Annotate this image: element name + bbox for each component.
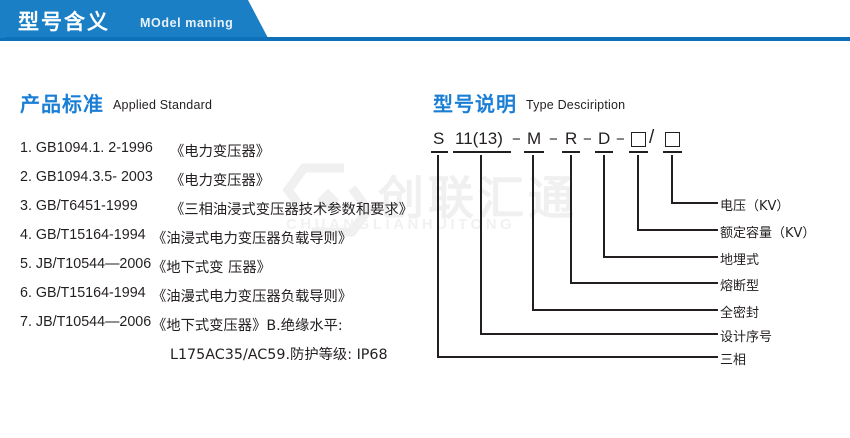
standard-index: 3. [20,198,32,214]
standard-code-text: GB/T15164-1994 [36,227,146,243]
standard-index: 6. [20,285,32,301]
standard-index: 1. [20,140,32,156]
standard-row: 3. GB/T6451-1999 《三相油浸式变压器技术参数和要求》 [20,198,440,227]
standard-index: 4. [20,227,32,243]
callout-label-buried-type: 地埋式 [720,249,759,268]
standard-continuation-text: L175AC35/AC59.防护等级: IP68 [170,343,388,364]
page-root: 型号含义 MOdel maning 创联汇通 CHUANGLIANHUITONG… [0,0,850,438]
standard-row: 7. JB/T10544—2006 《地下式变压器》B.绝缘水平: [20,314,440,343]
standard-code: 3. GB/T6451-1999 [20,198,138,214]
left-section-title-cn: 产品标准 [20,92,104,116]
left-section-title: 产品标准Applied Standard [20,88,212,117]
right-section-title: 型号说明Type Desciription [433,88,625,117]
callout-label-three-phase: 三相 [720,349,746,368]
left-section-title-en: Applied Standard [113,98,212,112]
standard-code-text: GB/T15164-1994 [36,285,146,301]
standard-index: 5. [20,256,32,272]
standard-name: 《三相油浸式变压器技术参数和要求》 [170,198,413,219]
standard-name: 《地下式变压器》B.绝缘水平: [152,314,343,335]
standards-list: 1. GB1094.1. 2-1996 《电力变压器》 2. GB1094.3.… [20,140,440,372]
standard-row: 1. GB1094.1. 2-1996 《电力变压器》 [20,140,440,169]
model-description-diagram: S 11(13) − M − R − D − / [425,125,850,370]
callout-leader-lines [425,125,850,370]
callout-label-fully-sealed: 全密封 [720,302,759,321]
standard-code: 6. GB/T15164-1994 [20,285,146,301]
standard-code-text: GB1094.3.5- 2003 [36,169,153,185]
standard-name: 《电力变压器》 [170,169,270,190]
standard-name: 《地下式变 压器》 [152,256,271,277]
page-header: 型号含义 MOdel maning [0,0,850,46]
header-title-en: MOdel maning [140,16,233,30]
standard-code-text: GB1094.1. 2-1996 [36,140,153,156]
standard-code: 2. GB1094.3.5- 2003 [20,169,153,185]
standard-code: 1. GB1094.1. 2-1996 [20,140,153,156]
standard-code: 7. JB/T10544—2006 [20,314,151,330]
header-title-cn: 型号含义 [18,6,110,36]
standard-code-text: GB/T6451-1999 [36,198,138,214]
standard-name: 《油漫式电力变压器负载导则》 [152,285,352,306]
standard-code: 5. JB/T10544—2006 [20,256,151,272]
standard-row: 6. GB/T15164-1994 《油漫式电力变压器负载导则》 [20,285,440,314]
right-section-title-cn: 型号说明 [433,92,517,116]
callout-label-fuse-type: 熔断型 [720,275,759,294]
standard-name: 《油浸式电力变压器负载导则》 [152,227,352,248]
callout-label-design-serial: 设计序号 [720,326,772,345]
right-section-title-en: Type Desciription [526,98,625,112]
standard-row: 5. JB/T10544—2006 《地下式变 压器》 [20,256,440,285]
standard-code-text: JB/T10544—2006 [36,314,151,330]
standard-row: 2. GB1094.3.5- 2003 《电力变压器》 [20,169,440,198]
standard-index: 7. [20,314,32,330]
callout-label-rated-capacity: 额定容量（KV） [720,222,815,241]
standard-index: 2. [20,169,32,185]
standard-row: 4. GB/T15164-1994 《油浸式电力变压器负载导则》 [20,227,440,256]
standard-name: 《电力变压器》 [170,140,270,161]
header-banner-shape [0,0,850,46]
standard-continuation-row: L175AC35/AC59.防护等级: IP68 [20,343,440,372]
standard-code-text: JB/T10544—2006 [36,256,151,272]
callout-label-voltage: 电压（KV） [720,195,789,214]
standard-code: 4. GB/T15164-1994 [20,227,146,243]
